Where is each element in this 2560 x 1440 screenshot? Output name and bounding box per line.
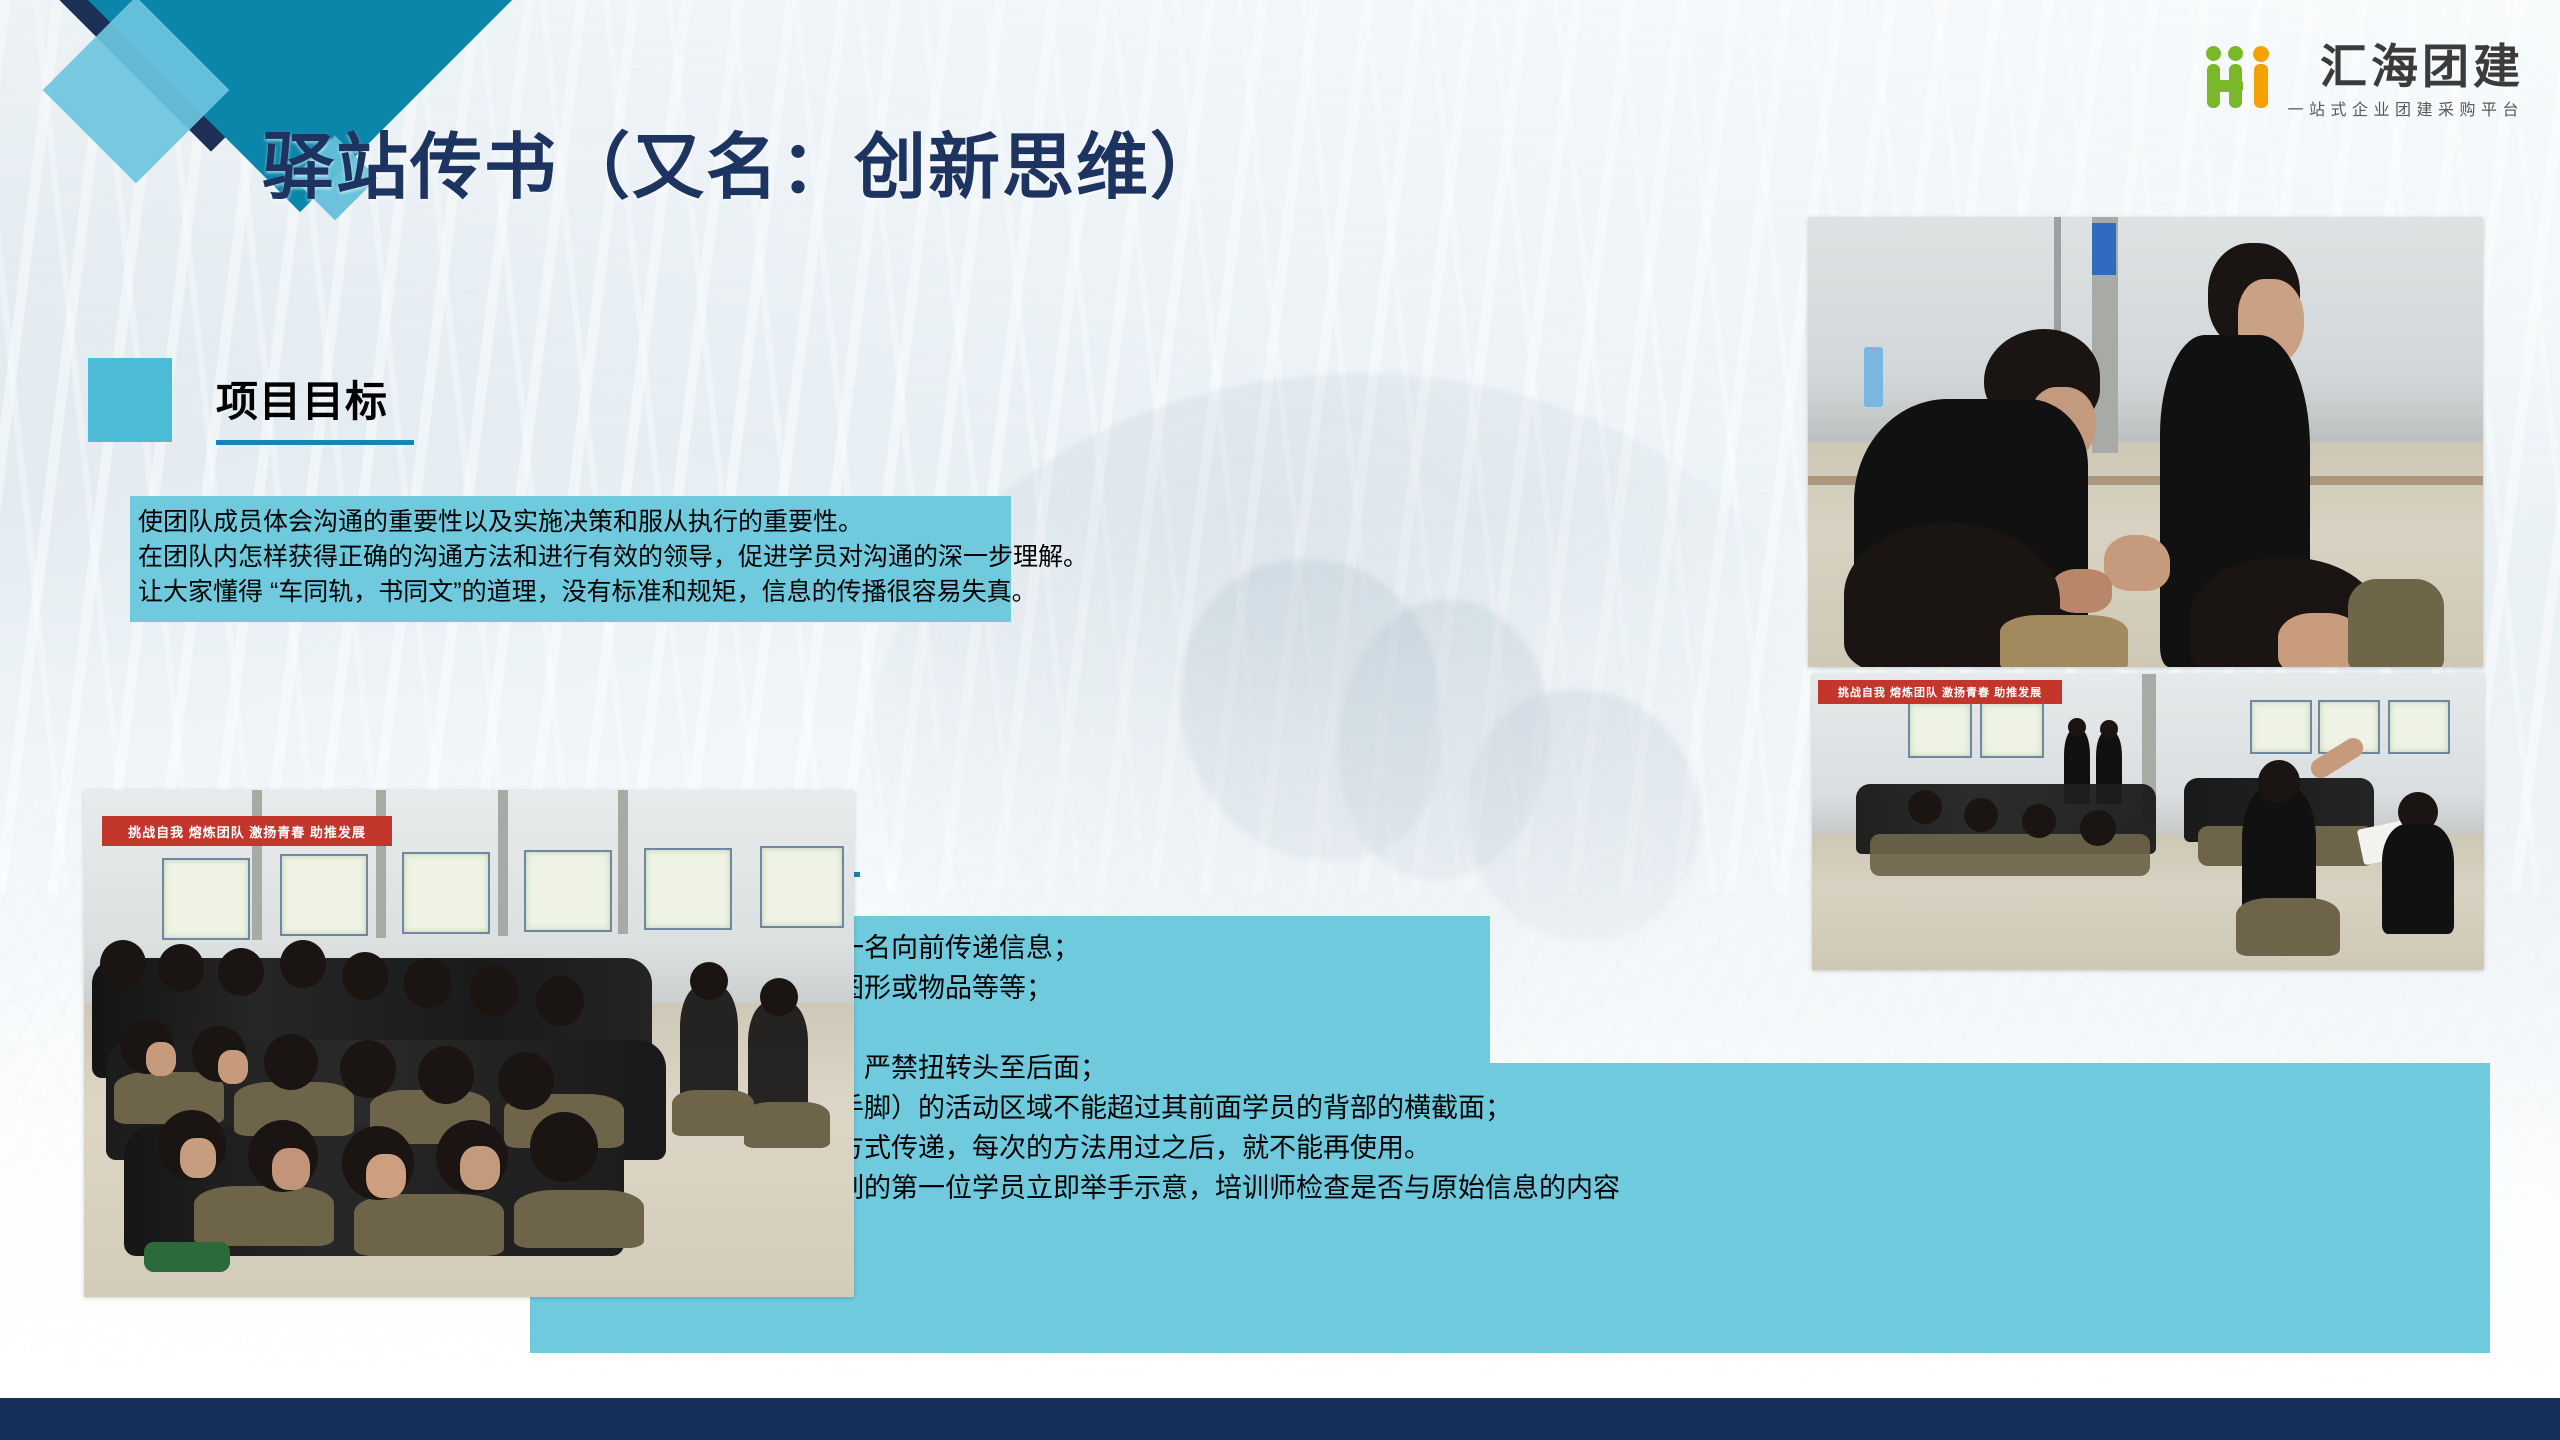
photo-banner: 挑战自我 熔炼团队 激扬青春 助推发展 bbox=[1818, 680, 2062, 704]
goal-line: 在团队内怎样获得正确的沟通方法和进行有效的领导，促进学员对沟通的深一步理解。 bbox=[138, 540, 1011, 575]
goal-line: 使团队成员体会沟通的重要性以及实施决策和服从执行的重要性。 bbox=[138, 505, 1011, 540]
section-marker-square bbox=[88, 358, 172, 442]
section-title-goal: 项目目标 bbox=[216, 368, 388, 429]
photo-top-right bbox=[1808, 217, 2483, 667]
footer-bar bbox=[0, 1398, 2560, 1440]
brand-logo: 汇海团建 一站式企业团建采购平台 bbox=[2205, 42, 2524, 120]
photo-bottom-left: 挑战自我 熔炼团队 激扬青春 助推发展 bbox=[84, 790, 854, 1297]
brand-name: 汇海团建 bbox=[2320, 42, 2524, 91]
section-rule bbox=[216, 440, 414, 445]
photo-banner: 挑战自我 熔炼团队 激扬青春 助推发展 bbox=[102, 816, 392, 846]
slide-canvas: 驿站传书（又名：创新思维） 汇海团建 一站式企业团建采购平台 项目目标 使团队成… bbox=[0, 0, 2560, 1440]
goal-line: 让大家懂得 “车同轨，书同文”的道理，没有标准和规矩，信息的传播很容易失真。 bbox=[138, 575, 1011, 610]
photo-mid-right: 挑战自我 熔炼团队 激扬青春 助推发展 bbox=[1812, 674, 2484, 970]
brand-tagline: 一站式企业团建采购平台 bbox=[2287, 96, 2524, 120]
slide-title: 驿站传书（又名：创新思维） bbox=[262, 108, 1224, 213]
section-header-goal: 项目目标 bbox=[88, 358, 648, 448]
goal-text-panel: 使团队成员体会沟通的重要性以及实施决策和服从执行的重要性。 在团队内怎样获得正确… bbox=[130, 496, 1011, 622]
hi-logo-icon bbox=[2205, 46, 2277, 108]
